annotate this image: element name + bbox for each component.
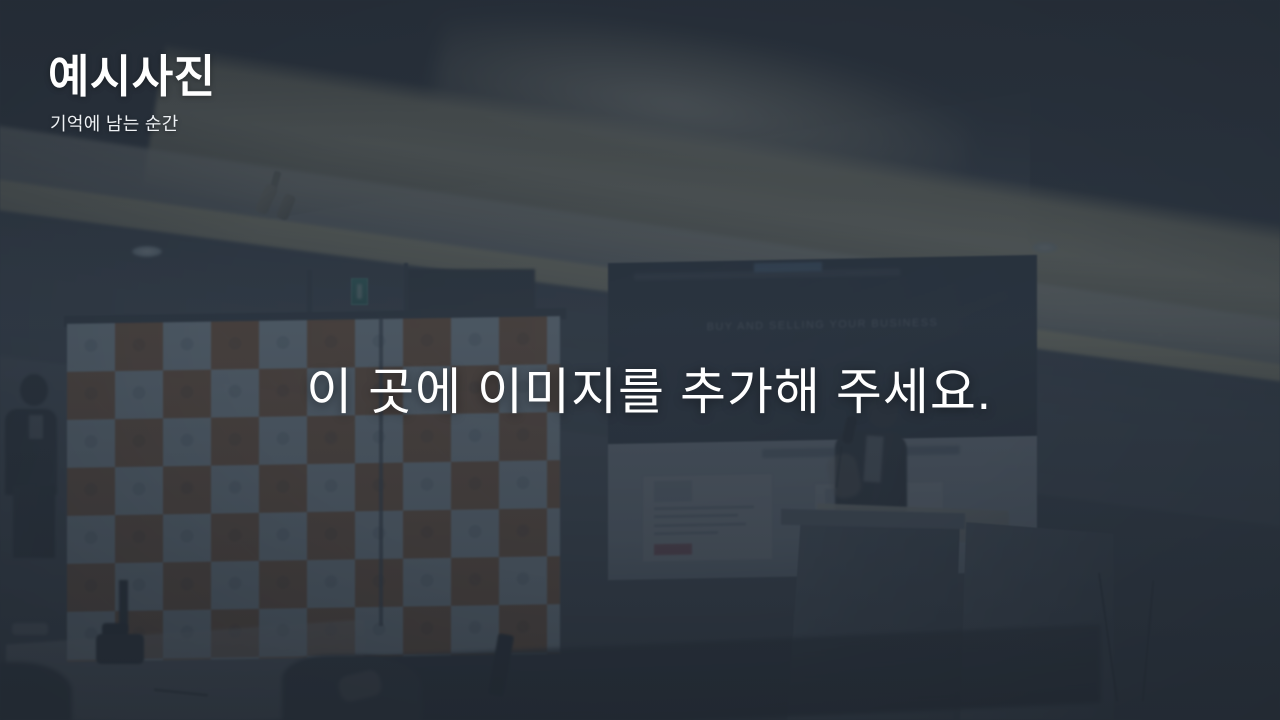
page-subtitle: 기억에 남는 순간 [50, 110, 216, 136]
slide-canvas: BUY AND SELLING YOUR BUSINESS [0, 0, 1280, 720]
image-placeholder-message: 이 곳에 이미지를 추가해 주세요. [0, 352, 1280, 424]
caption-block: 예시사진 기억에 남는 순간 [48, 52, 216, 136]
page-title: 예시사진 [48, 52, 216, 102]
